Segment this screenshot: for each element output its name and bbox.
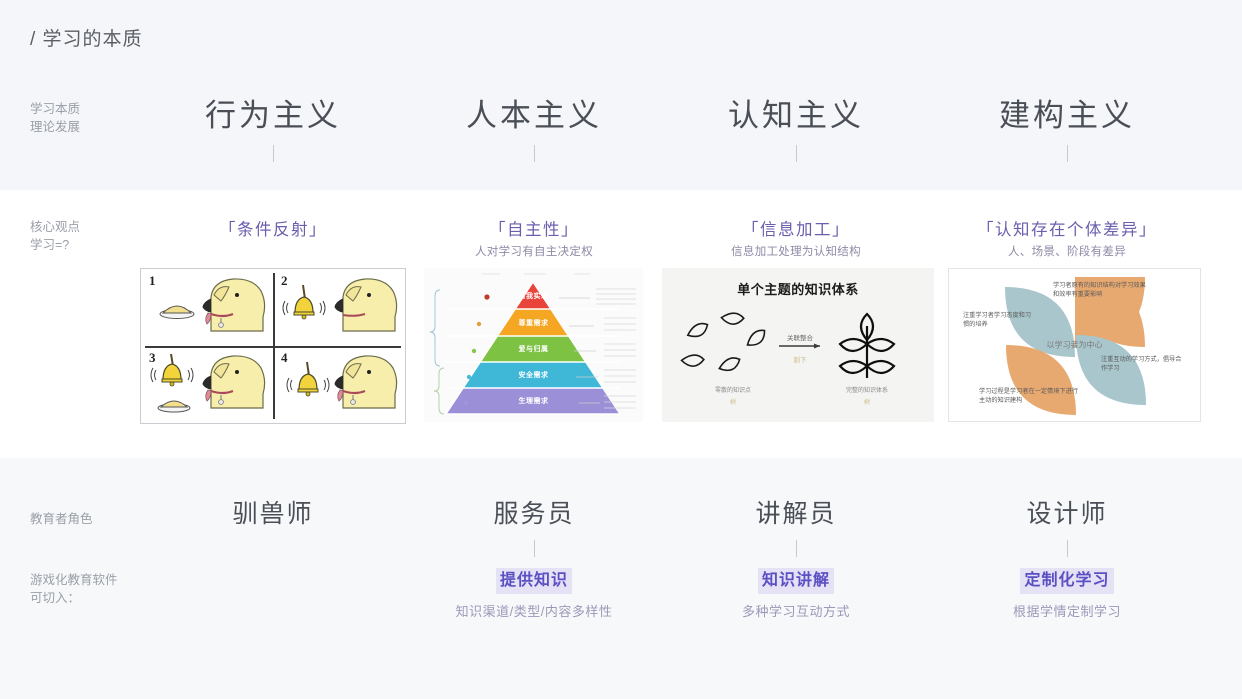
theory-name: 人本主义 bbox=[414, 95, 654, 137]
left-subcaption: 树 bbox=[678, 397, 788, 406]
role-col-1: 服务员 bbox=[414, 496, 654, 557]
role-col-3: 设计师 bbox=[947, 496, 1187, 557]
right-caption: 完整的知识体系 bbox=[812, 385, 922, 394]
software-subtitle: 知识渠道/类型/内容多样性 bbox=[414, 602, 654, 622]
core-title: 「认知存在个体差异」 bbox=[947, 218, 1187, 242]
pavlov-panel-2: 2 bbox=[273, 269, 405, 346]
pavlov-panel-1: 1 bbox=[141, 269, 273, 346]
arrow-sublabel: 割下 bbox=[766, 354, 834, 364]
maslow-level-4: 生理需求 bbox=[424, 390, 643, 412]
theory-name: 认知主义 bbox=[676, 95, 916, 137]
constructivism-right-text: 注重互动的学习方式，倡导合作学习 bbox=[1101, 355, 1185, 373]
panel-number: 2 bbox=[281, 273, 288, 289]
dog-bell-illustration bbox=[273, 269, 406, 347]
tick-mark bbox=[796, 540, 797, 557]
illustration-maslow-pyramid: 自我实现 尊重需求 爱与归属 安全需求 生理需求 bbox=[424, 268, 643, 422]
maslow-level-label: 爱与归属 bbox=[424, 344, 643, 354]
page-title: / 学习的本质 bbox=[30, 24, 143, 51]
theory-col-1: 人本主义 bbox=[414, 95, 654, 162]
core-title: 「自主性」 bbox=[414, 218, 654, 242]
maslow-level-3: 安全需求 bbox=[424, 364, 643, 386]
row-label-software: 游戏化教育软件 可切入： bbox=[30, 571, 118, 607]
row-label-core: 核心观点 学习=? bbox=[30, 218, 80, 254]
arrow-label: 关联整合 bbox=[766, 332, 834, 342]
tick-mark bbox=[534, 145, 535, 162]
row-label-theory: 学习本质 理论发展 bbox=[30, 100, 80, 136]
maslow-level-label: 生理需求 bbox=[424, 396, 643, 406]
theory-col-0: 行为主义 bbox=[153, 95, 393, 162]
constructivism-center-label: 以学习者为中心 bbox=[949, 340, 1200, 351]
core-col-0: 「条件反射」 bbox=[153, 218, 393, 243]
theory-name: 建构主义 bbox=[947, 95, 1187, 137]
maslow-level-label: 尊重需求 bbox=[424, 318, 643, 328]
role-name: 驯兽师 bbox=[153, 496, 393, 532]
core-subtitle: 人、场景、阶段有差异 bbox=[947, 243, 1187, 261]
core-subtitle: 人对学习有自主决定权 bbox=[414, 243, 654, 261]
constructivism-topright-text: 学习者原有的知识结构对学习效果和效率有重要影响 bbox=[1053, 281, 1149, 299]
software-subtitle: 多种学习互动方式 bbox=[676, 602, 916, 622]
role-name: 设计师 bbox=[947, 496, 1187, 532]
pavlov-panel-4: 4 bbox=[273, 346, 405, 423]
core-title: 「条件反射」 bbox=[153, 218, 393, 242]
theory-col-3: 建构主义 bbox=[947, 95, 1187, 162]
role-col-0: 驯兽师 bbox=[153, 496, 393, 532]
row-label-role: 教育者角色 bbox=[30, 510, 93, 528]
software-tag[interactable]: 知识讲解 bbox=[758, 568, 834, 594]
software-col-2: 知识讲解 多种学习互动方式 bbox=[676, 568, 916, 622]
role-name: 讲解员 bbox=[676, 496, 916, 532]
maslow-level-1: 尊重需求 bbox=[424, 311, 643, 335]
right-subcaption: 树 bbox=[812, 397, 922, 406]
constructivism-bottom-text: 学习过程是学习者在一定情境下进行主动的知识建构 bbox=[979, 387, 1079, 405]
illustration-knowledge-system: 单个主题的知识体系 bbox=[662, 268, 934, 422]
software-col-3: 定制化学习 根据学情定制学习 bbox=[947, 568, 1187, 622]
maslow-level-label: 自我实现 bbox=[424, 291, 643, 301]
pavlov-panel-3: 3 bbox=[141, 346, 273, 423]
core-subtitle: 信息加工处理为认知结构 bbox=[676, 243, 916, 261]
software-col-1: 提供知识 知识渠道/类型/内容多样性 bbox=[414, 568, 654, 622]
left-caption: 零散的知识点 bbox=[678, 385, 788, 394]
software-subtitle: 根据学情定制学习 bbox=[947, 602, 1187, 622]
tick-mark bbox=[1067, 145, 1068, 162]
panel-number: 3 bbox=[149, 350, 156, 366]
dog-food-illustration bbox=[141, 269, 274, 347]
tick-mark bbox=[1067, 540, 1068, 557]
core-col-1: 「自主性」 人对学习有自主决定权 bbox=[414, 218, 654, 261]
tick-mark bbox=[273, 145, 274, 162]
role-col-2: 讲解员 bbox=[676, 496, 916, 557]
software-tag[interactable]: 定制化学习 bbox=[1020, 568, 1113, 594]
slide-root: / 学习的本质 学习本质 理论发展 核心观点 学习=? 教育者角色 游戏化教育软… bbox=[0, 0, 1242, 699]
tick-mark bbox=[534, 540, 535, 557]
software-tag[interactable]: 提供知识 bbox=[496, 568, 572, 594]
maslow-level-0: 自我实现 bbox=[424, 284, 643, 308]
maslow-level-label: 安全需求 bbox=[424, 370, 643, 380]
illustration-constructivism: 以学习者为中心 注重学习者学习态度和习惯的培养 学习者原有的知识结构对学习效果和… bbox=[948, 268, 1201, 422]
maslow-level-2: 爱与归属 bbox=[424, 338, 643, 360]
dog-bell-food-illustration bbox=[141, 346, 274, 424]
tick-mark bbox=[796, 145, 797, 162]
panel-number: 4 bbox=[281, 350, 288, 366]
core-col-2: 「信息加工」 信息加工处理为认知结构 bbox=[676, 218, 916, 261]
illustration-pavlov-conditioning: 1 2 bbox=[140, 268, 406, 424]
core-title: 「信息加工」 bbox=[676, 218, 916, 242]
theory-name: 行为主义 bbox=[153, 95, 393, 137]
theory-col-2: 认知主义 bbox=[676, 95, 916, 162]
core-col-3: 「认知存在个体差异」 人、场景、阶段有差异 bbox=[947, 218, 1187, 261]
role-name: 服务员 bbox=[414, 496, 654, 532]
dog-bell-salivating-illustration bbox=[273, 346, 406, 424]
panel-number: 1 bbox=[149, 273, 156, 289]
constructivism-left-text: 注重学习者学习态度和习惯的培养 bbox=[963, 311, 1037, 329]
